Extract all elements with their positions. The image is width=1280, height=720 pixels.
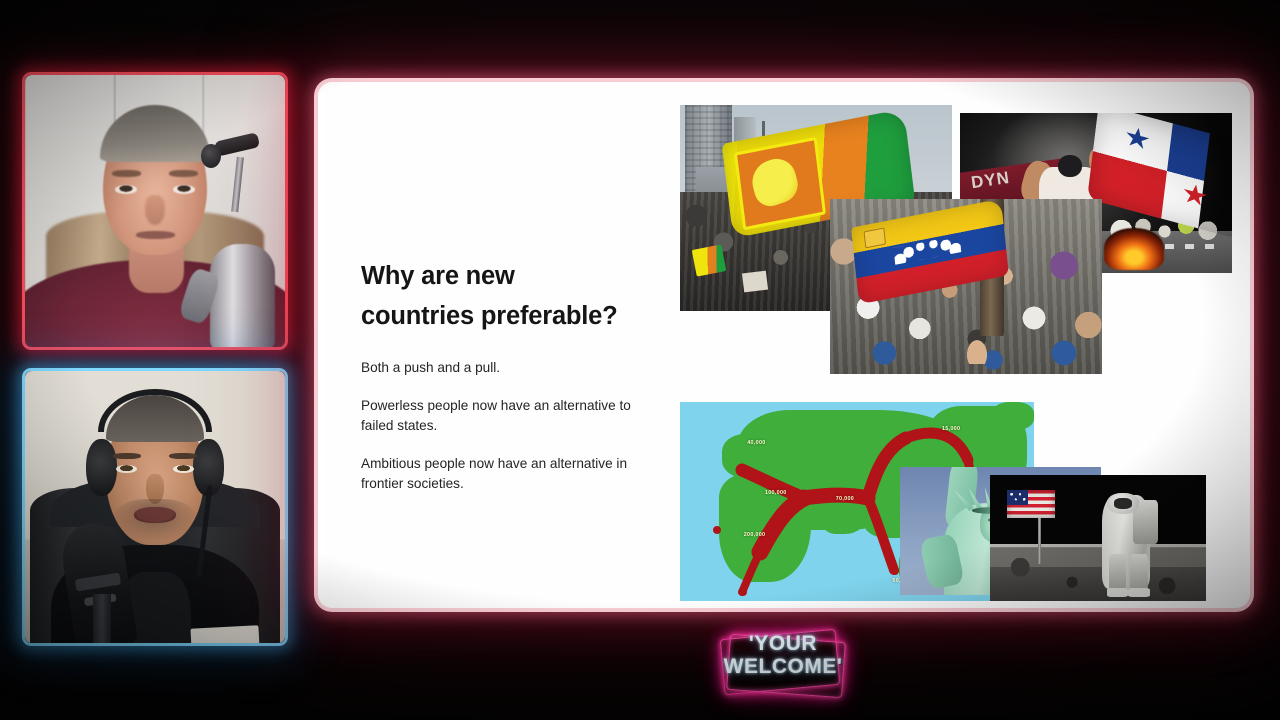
astronaut-leg-right — [1130, 554, 1147, 592]
host-eyebrow-right — [169, 170, 198, 177]
desk-paper — [191, 625, 260, 643]
small-sri-lanka-flag — [691, 245, 725, 277]
astronaut-boot-left — [1107, 588, 1129, 597]
slide-title-line-1: Why are new — [361, 257, 661, 297]
logo-line-1: 'YOUR — [716, 634, 850, 654]
host-eye-right — [173, 185, 195, 194]
webcam-panel-host-bottom[interactable] — [22, 368, 288, 646]
raised-hands — [955, 318, 999, 364]
slide-title: Why are new countries preferable? — [361, 257, 661, 336]
map-label-200000: 200,000 — [744, 532, 766, 538]
microphone-stand — [93, 594, 111, 643]
webcam-feed-host-bottom — [25, 371, 285, 643]
guest-eyebrow-right — [169, 453, 196, 460]
astronaut-helmet — [1107, 493, 1139, 515]
protester-head — [1058, 155, 1082, 177]
protest-placard — [742, 270, 769, 291]
host-mouth — [136, 231, 175, 239]
map-label-15000: 15,000 — [942, 426, 960, 432]
slide-image-moon-landing — [990, 475, 1206, 601]
venezuela-flag-crest — [864, 228, 887, 249]
video-stage: Why are new countries preferable? Both a… — [0, 0, 1280, 720]
guest-eyebrow-left — [113, 453, 140, 460]
slide-title-line-2: countries preferable? — [361, 297, 661, 337]
microphone-boom-arm — [199, 129, 277, 221]
map-label-40000: 40,000 — [747, 440, 765, 446]
us-flag — [1007, 490, 1055, 518]
host-nose — [145, 195, 166, 225]
map-label-100000: 100,000 — [765, 490, 787, 496]
headphone-earcup-left — [86, 439, 117, 496]
guest-eye-right — [173, 465, 194, 473]
panama-flag-star-red — [1181, 181, 1207, 208]
guest-eye-left — [116, 465, 137, 473]
boom-stem — [231, 157, 244, 213]
host-eyebrow-left — [112, 170, 141, 177]
map-label-70000: 70,000 — [836, 496, 854, 502]
presentation-slide: Why are new countries preferable? Both a… — [325, 89, 1243, 601]
slide-paragraph-1: Both a push and a pull. — [361, 358, 661, 378]
astronaut-leg-left — [1109, 554, 1126, 592]
presentation-slide-frame[interactable]: Why are new countries preferable? Both a… — [318, 82, 1250, 608]
burning-tires — [1104, 228, 1164, 270]
astronaut-boot-right — [1128, 588, 1150, 597]
slide-paragraph-3: Ambitious people now have an alternative… — [361, 454, 661, 494]
webcam-feed-host-top — [25, 75, 285, 347]
lunar-surface — [990, 544, 1206, 601]
guest-mouth — [134, 507, 176, 523]
logo-line-2: WELCOME' — [716, 657, 850, 677]
webcam-panel-host-top[interactable] — [22, 72, 288, 350]
slide-paragraph-2: Powerless people now have an alternative… — [361, 396, 661, 436]
host-eye-left — [115, 185, 137, 194]
boom-joint — [201, 144, 221, 168]
microphone — [210, 244, 275, 347]
logo-wordmark: 'YOUR WELCOME' — [716, 634, 850, 677]
show-logo[interactable]: 'YOUR WELCOME' — [716, 626, 850, 702]
slide-image-venezuela-crowd — [830, 199, 1102, 374]
panama-flag-star-blue — [1124, 124, 1150, 151]
slide-text-block: Why are new countries preferable? Both a… — [361, 257, 661, 495]
